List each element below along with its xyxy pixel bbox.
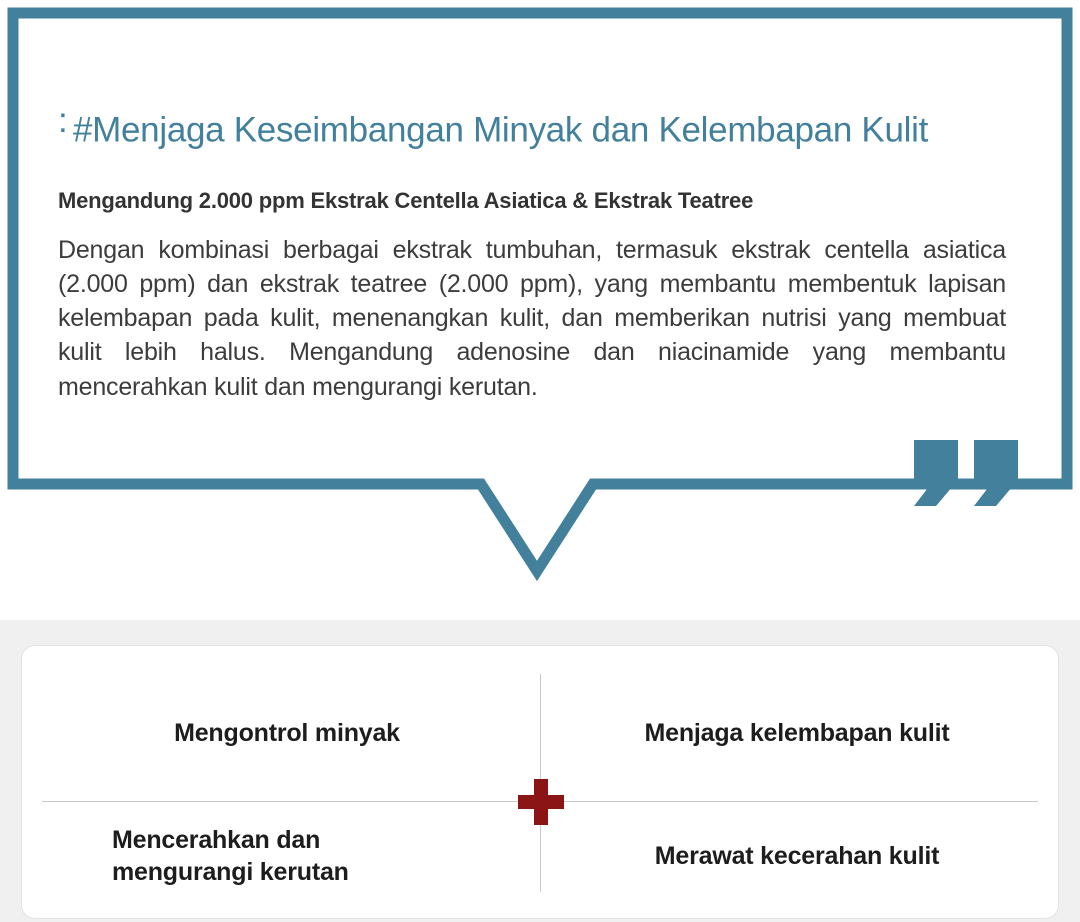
benefit-item-4-label: Merawat kecerahan kulit bbox=[655, 840, 939, 872]
closing-quote-icon bbox=[914, 440, 1018, 506]
title-clipped-glyph: : bbox=[58, 101, 70, 141]
benefits-card: Mengontrol minyak Menjaga kelembapan kul… bbox=[22, 646, 1058, 918]
benefit-item-3: Mencerahkan dan mengurangi kerutan bbox=[112, 806, 522, 906]
benefit-item-4: Merawat kecerahan kulit bbox=[562, 806, 1032, 906]
benefits-section: Mengontrol minyak Menjaga kelembapan kul… bbox=[0, 620, 1080, 922]
page-title: :#Menjaga Keseimbangan Minyak dan Kelemb… bbox=[58, 101, 1026, 151]
red-cross-icon bbox=[518, 779, 564, 825]
benefit-item-1: Mengontrol minyak bbox=[52, 668, 522, 798]
description-paragraph: Dengan kombinasi berbagai ekstrak tumbuh… bbox=[58, 233, 1006, 404]
bubble-content: :#Menjaga Keseimbangan Minyak dan Kelemb… bbox=[58, 78, 1026, 429]
benefit-item-2: Menjaga kelembapan kulit bbox=[562, 668, 1032, 798]
speech-bubble-section: :#Menjaga Keseimbangan Minyak dan Kelemb… bbox=[0, 0, 1080, 620]
ingredient-subtitle: Mengandung 2.000 ppm Ekstrak Centella As… bbox=[58, 187, 1026, 215]
page-title-text: #Menjaga Keseimbangan Minyak dan Kelemba… bbox=[73, 111, 928, 150]
benefit-item-3-label: Mencerahkan dan mengurangi kerutan bbox=[112, 824, 349, 888]
benefit-item-1-label: Mengontrol minyak bbox=[174, 717, 400, 749]
benefit-item-2-label: Menjaga kelembapan kulit bbox=[644, 717, 949, 749]
